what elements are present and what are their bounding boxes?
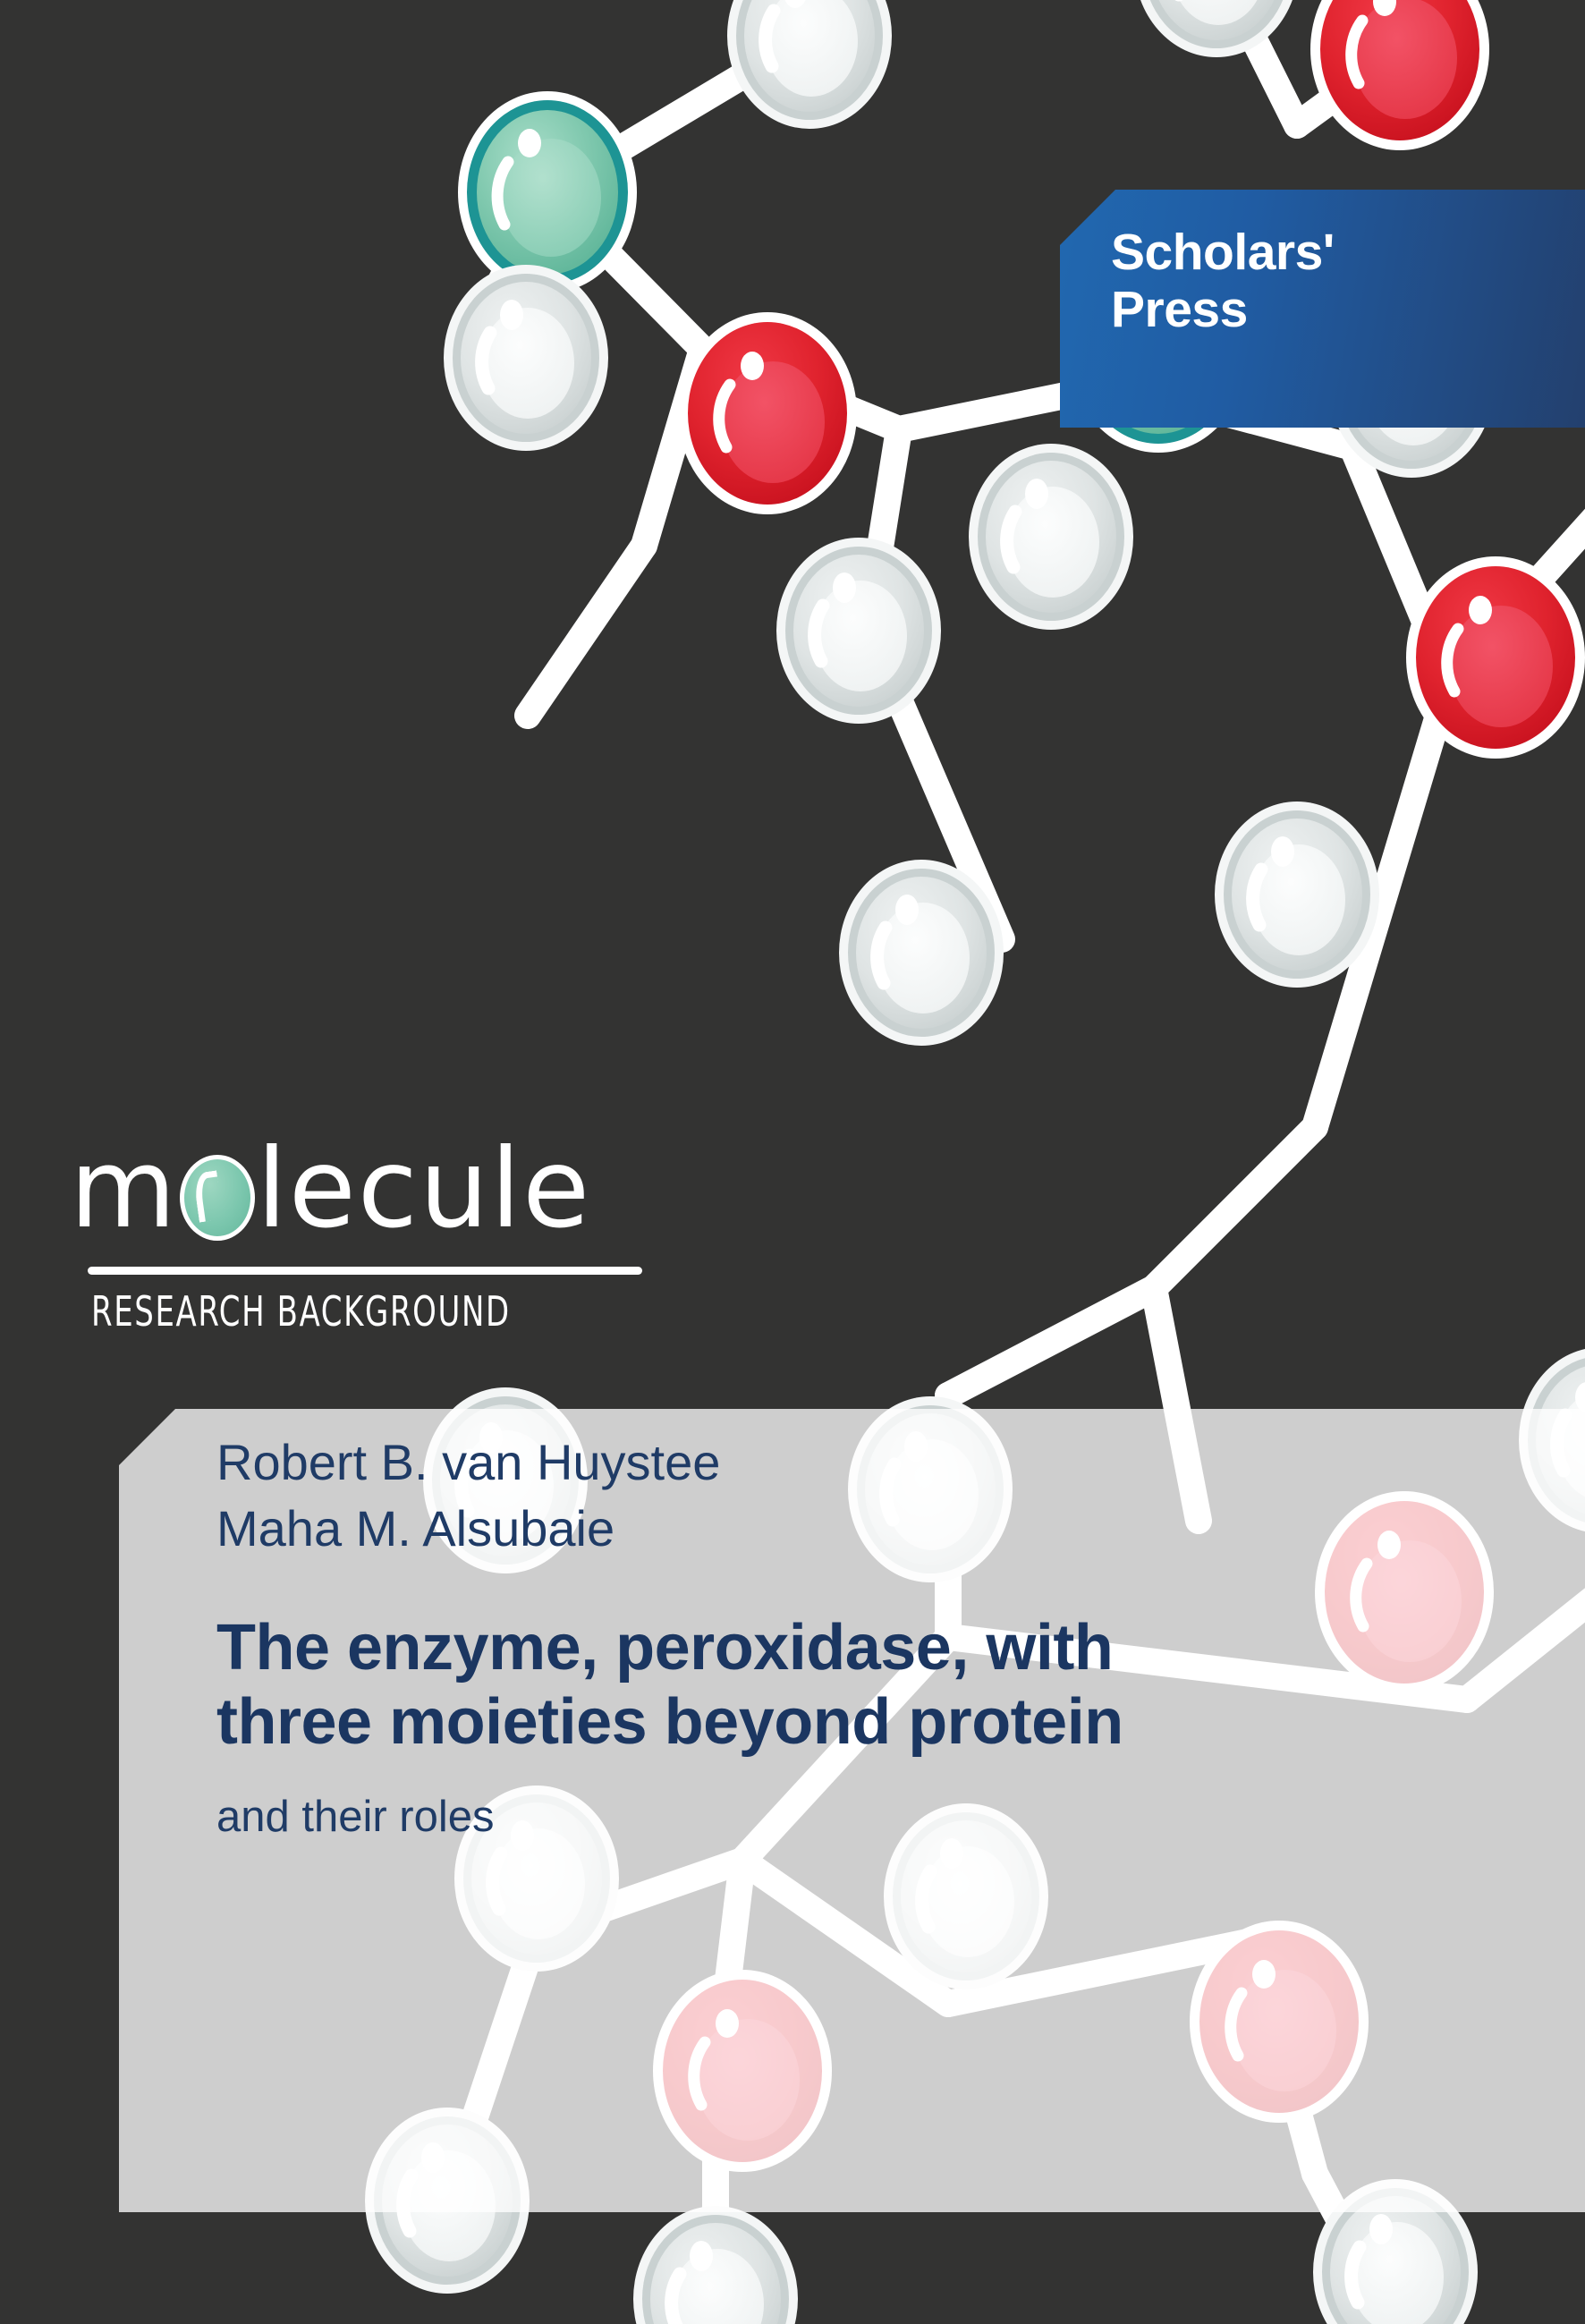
- series-logo-prefix: m: [70, 1134, 178, 1243]
- book-text-block: Robert B. van Huystee Maha M. Alsubaie T…: [216, 1429, 1379, 1844]
- book-title-line-2: three moieties beyond protein: [216, 1685, 1379, 1760]
- publisher-name-line1: Scholars': [1111, 224, 1576, 281]
- series-logo-word: mlecule: [70, 1134, 642, 1249]
- series-logo-suffix: lecule: [257, 1134, 591, 1243]
- book-title: The enzyme, peroxidase, with three moiet…: [216, 1611, 1379, 1760]
- logo-divider: [88, 1267, 642, 1275]
- publisher-name: Scholars' Press: [1111, 224, 1576, 339]
- book-title-line-1: The enzyme, peroxidase, with: [216, 1611, 1379, 1686]
- publisher-name-line2: Press: [1111, 281, 1576, 338]
- series-tagline: RESEARCH BACKGROUND: [91, 1287, 543, 1336]
- author-name-2: Maha M. Alsubaie: [216, 1496, 1379, 1562]
- book-cover: Scholars' Press mlecule RESEARCH BACKGRO…: [0, 0, 1585, 2324]
- author-name-1: Robert B. van Huystee: [216, 1429, 1379, 1496]
- atom-sphere-icon: [180, 1155, 255, 1241]
- series-logo: mlecule RESEARCH BACKGROUND: [70, 1134, 642, 1336]
- book-subtitle: and their roles: [216, 1791, 1379, 1844]
